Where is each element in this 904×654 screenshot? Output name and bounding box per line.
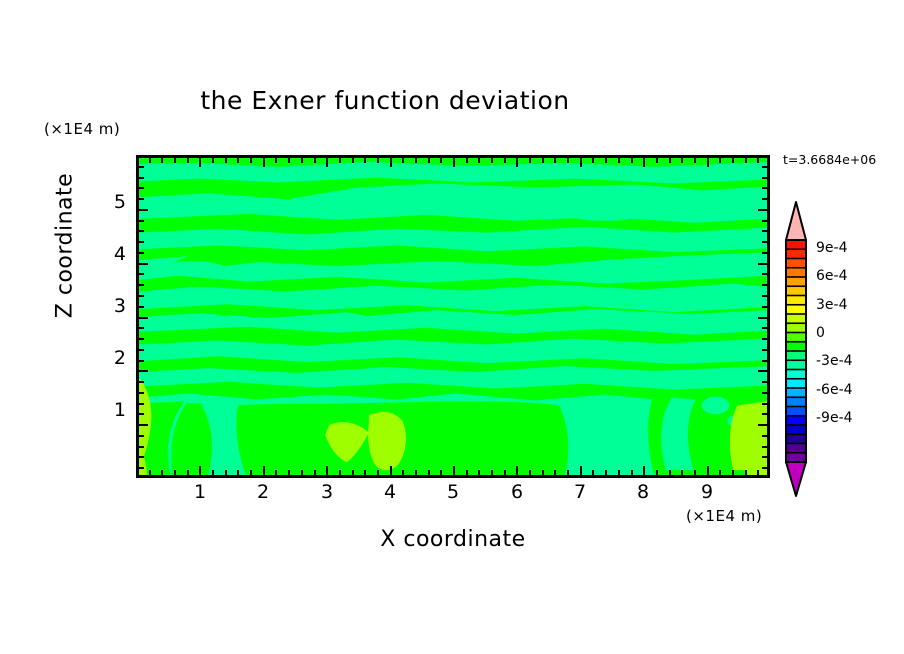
y-major-tick-5 <box>138 209 148 211</box>
y-minor-tick-right-1.8 <box>762 381 768 383</box>
x-minor-tick-top-4.4 <box>415 157 417 163</box>
x-minor-tick-top-2.6 <box>301 157 303 163</box>
y-minor-tick-0.8 <box>138 435 144 437</box>
x-minor-tick-7.4 <box>605 470 607 476</box>
x-minor-tick-top-4.6 <box>428 157 430 163</box>
x-minor-tick-top-1.2 <box>212 157 214 163</box>
x-minor-tick-8.6 <box>681 470 683 476</box>
y-minor-tick-right-3.8 <box>762 273 768 275</box>
x-minor-tick-top-9.6 <box>745 157 747 163</box>
x-minor-tick-top-7.8 <box>631 157 633 163</box>
x-minor-tick-top-9.4 <box>732 157 734 163</box>
x-minor-tick-1.2 <box>212 470 214 476</box>
x-minor-tick-4.4 <box>415 470 417 476</box>
x-minor-tick-2.6 <box>301 470 303 476</box>
x-minor-tick-top-0.8 <box>187 157 189 163</box>
y-minor-tick-3.8 <box>138 273 144 275</box>
x-minor-tick-9.6 <box>745 470 747 476</box>
x-minor-tick-0.6 <box>174 470 176 476</box>
x-minor-tick-top-2.8 <box>314 157 316 163</box>
colorbar-band-17 <box>786 397 806 407</box>
colorbar-band-15 <box>786 379 806 389</box>
x-minor-tick-top-4.2 <box>402 157 404 163</box>
y-minor-tick-right-0.4 <box>762 456 768 458</box>
y-minor-tick-2.4 <box>138 349 144 351</box>
x-minor-tick-5.6 <box>491 470 493 476</box>
x-minor-tick-top-5.2 <box>466 157 468 163</box>
x-major-tick-7 <box>580 466 582 476</box>
colorbar-band-20 <box>786 425 806 435</box>
timestamp-label: t=3.6684e+06 <box>783 152 876 167</box>
x-minor-tick-top-6.2 <box>529 157 531 163</box>
y-major-tick-4 <box>138 263 148 265</box>
y-tick-label-5: 5 <box>100 191 126 213</box>
x-minor-tick-top-4.8 <box>440 157 442 163</box>
y-minor-tick-right-3.2 <box>762 306 768 308</box>
x-tick-label-5: 5 <box>438 481 468 503</box>
y-minor-tick-right-4.6 <box>762 230 768 232</box>
colorbar-band-2 <box>786 259 806 269</box>
y-minor-tick-1.2 <box>138 413 144 415</box>
colorbar-band-7 <box>786 305 806 315</box>
x-major-tick-9 <box>707 466 709 476</box>
y-major-tick-right-5 <box>758 209 768 211</box>
x-minor-tick-8.8 <box>694 470 696 476</box>
y-minor-tick-1.8 <box>138 381 144 383</box>
y-minor-tick-2.2 <box>138 360 144 362</box>
y-minor-tick-right-0.2 <box>762 467 768 469</box>
y-tick-label-2: 2 <box>100 347 126 369</box>
colorbar-band-14 <box>786 370 806 380</box>
y-minor-tick-right-0.8 <box>762 435 768 437</box>
x-major-tick-top-2 <box>263 157 265 167</box>
y-minor-tick-right-2.8 <box>762 327 768 329</box>
y-minor-tick-1.6 <box>138 392 144 394</box>
colorbar-band-8 <box>786 314 806 324</box>
x-major-tick-1 <box>199 466 201 476</box>
x-major-tick-6 <box>516 466 518 476</box>
x-minor-tick-6.8 <box>567 470 569 476</box>
colorbar-band-23 <box>786 453 806 463</box>
x-minor-tick-5.4 <box>478 470 480 476</box>
y-major-tick-right-1 <box>758 424 768 426</box>
y-minor-tick-4.4 <box>138 241 144 243</box>
y-major-tick-1 <box>138 424 148 426</box>
x-minor-tick-9.2 <box>719 470 721 476</box>
x-minor-tick-7.2 <box>592 470 594 476</box>
x-minor-tick-top-3.6 <box>364 157 366 163</box>
y-minor-tick-5.6 <box>138 177 144 179</box>
colorbar-band-11 <box>786 342 806 352</box>
x-minor-tick-2.4 <box>288 470 290 476</box>
colorbar-band-13 <box>786 360 806 370</box>
x-minor-tick-top-0.4 <box>161 157 163 163</box>
colorbar-tick-label-5: -6e-4 <box>816 382 853 398</box>
x-major-tick-top-3 <box>326 157 328 167</box>
x-major-tick-4 <box>390 466 392 476</box>
x-minor-tick-4.8 <box>440 470 442 476</box>
x-minor-tick-top-1.8 <box>250 157 252 163</box>
y-minor-tick-right-5.2 <box>762 198 768 200</box>
colorbar <box>779 200 813 500</box>
x-minor-tick-top-7.4 <box>605 157 607 163</box>
x-minor-tick-top-5.8 <box>504 157 506 163</box>
y-minor-tick-0.4 <box>138 456 144 458</box>
x-tick-label-3: 3 <box>312 481 342 503</box>
x-minor-tick-top-5.4 <box>478 157 480 163</box>
y-axis-title: Z coordinate <box>53 121 78 371</box>
colorbar-swatches <box>779 200 813 500</box>
x-minor-tick-6.6 <box>554 470 556 476</box>
colorbar-band-0 <box>786 240 806 250</box>
colorbar-tick-label-3: 0 <box>816 325 825 341</box>
x-minor-tick-7.6 <box>618 470 620 476</box>
x-axis-title: X coordinate <box>136 527 770 552</box>
y-minor-tick-right-3.4 <box>762 295 768 297</box>
x-minor-tick-top-8.6 <box>681 157 683 163</box>
y-minor-tick-0.2 <box>138 467 144 469</box>
y-minor-tick-right-1.6 <box>762 392 768 394</box>
colorbar-band-21 <box>786 434 806 444</box>
y-minor-tick-right-5.8 <box>762 166 768 168</box>
y-major-tick-right-3 <box>758 317 768 319</box>
x-major-tick-top-6 <box>516 157 518 167</box>
x-minor-tick-top-9.2 <box>719 157 721 163</box>
y-minor-tick-3.6 <box>138 284 144 286</box>
y-tick-label-3: 3 <box>100 295 126 317</box>
x-minor-tick-5.2 <box>466 470 468 476</box>
y-minor-tick-5.4 <box>138 187 144 189</box>
y-minor-tick-0.6 <box>138 446 144 448</box>
x-tick-label-7: 7 <box>565 481 595 503</box>
y-major-tick-2 <box>138 370 148 372</box>
y-minor-tick-5.8 <box>138 166 144 168</box>
x-minor-tick-9.4 <box>732 470 734 476</box>
y-major-tick-3 <box>138 317 148 319</box>
y-minor-tick-right-2.6 <box>762 338 768 340</box>
x-minor-tick-0.2 <box>149 470 151 476</box>
x-minor-tick-top-0.2 <box>149 157 151 163</box>
y-minor-tick-right-4.4 <box>762 241 768 243</box>
y-minor-tick-right-1.2 <box>762 413 768 415</box>
x-tick-label-2: 2 <box>248 481 278 503</box>
x-minor-tick-top-1.4 <box>225 157 227 163</box>
y-minor-tick-4.8 <box>138 220 144 222</box>
y-minor-tick-right-2.4 <box>762 349 768 351</box>
x-minor-tick-3.8 <box>377 470 379 476</box>
x-minor-tick-top-5.6 <box>491 157 493 163</box>
y-tick-label-4: 4 <box>100 243 126 265</box>
x-major-tick-top-4 <box>390 157 392 167</box>
x-minor-tick-7.8 <box>631 470 633 476</box>
x-tick-label-6: 6 <box>502 481 532 503</box>
colorbar-band-1 <box>786 249 806 259</box>
x-tick-label-1: 1 <box>185 481 215 503</box>
x-minor-tick-top-0.6 <box>174 157 176 163</box>
colorbar-band-19 <box>786 416 806 426</box>
x-minor-tick-8.2 <box>656 470 658 476</box>
colorbar-band-10 <box>786 333 806 343</box>
x-minor-tick-top-9.8 <box>757 157 759 163</box>
x-major-tick-top-7 <box>580 157 582 167</box>
x-major-tick-8 <box>643 466 645 476</box>
colorbar-band-9 <box>786 323 806 333</box>
x-major-tick-2 <box>263 466 265 476</box>
x-major-tick-top-9 <box>707 157 709 167</box>
colorbar-tick-label-0: 9e-4 <box>816 240 847 256</box>
contour-field <box>139 158 767 475</box>
x-minor-tick-4.6 <box>428 470 430 476</box>
y-minor-tick-5.2 <box>138 198 144 200</box>
colorbar-band-3 <box>786 268 806 278</box>
x-tick-label-4: 4 <box>375 481 405 503</box>
y-minor-tick-right-4.8 <box>762 220 768 222</box>
x-minor-tick-1.8 <box>250 470 252 476</box>
x-major-tick-top-5 <box>453 157 455 167</box>
x-tick-label-9: 9 <box>692 481 722 503</box>
x-minor-tick-3.2 <box>339 470 341 476</box>
x-minor-tick-top-8.2 <box>656 157 658 163</box>
y-minor-tick-3.4 <box>138 295 144 297</box>
colorbar-band-16 <box>786 388 806 398</box>
y-minor-tick-right-1.4 <box>762 403 768 405</box>
x-major-tick-top-8 <box>643 157 645 167</box>
y-tick-label-1: 1 <box>100 399 126 421</box>
x-minor-tick-top-3.2 <box>339 157 341 163</box>
x-minor-tick-top-7.2 <box>592 157 594 163</box>
y-minor-tick-2.8 <box>138 327 144 329</box>
colorbar-tick-label-4: -3e-4 <box>816 353 853 369</box>
y-minor-tick-right-2.2 <box>762 360 768 362</box>
colorbar-band-18 <box>786 407 806 417</box>
y-minor-tick-1.4 <box>138 403 144 405</box>
colorbar-band-12 <box>786 351 806 361</box>
x-minor-tick-1.6 <box>237 470 239 476</box>
y-minor-tick-right-0.6 <box>762 446 768 448</box>
x-minor-tick-0.8 <box>187 470 189 476</box>
x-major-tick-5 <box>453 466 455 476</box>
x-minor-tick-top-6.6 <box>554 157 556 163</box>
colorbar-band-5 <box>786 286 806 296</box>
x-minor-tick-3.4 <box>352 470 354 476</box>
x-minor-tick-top-1.6 <box>237 157 239 163</box>
y-minor-tick-3.2 <box>138 306 144 308</box>
x-minor-tick-top-3.8 <box>377 157 379 163</box>
x-minor-tick-2.8 <box>314 470 316 476</box>
colorbar-tick-label-1: 6e-4 <box>816 268 847 284</box>
x-minor-tick-top-2.2 <box>275 157 277 163</box>
x-minor-tick-top-3.4 <box>352 157 354 163</box>
x-minor-tick-top-8.4 <box>669 157 671 163</box>
y-minor-tick-2.6 <box>138 338 144 340</box>
y-minor-tick-right-4.2 <box>762 252 768 254</box>
x-minor-tick-top-8.8 <box>694 157 696 163</box>
x-minor-tick-2.2 <box>275 470 277 476</box>
colorbar-band-4 <box>786 277 806 287</box>
y-minor-tick-right-5.4 <box>762 187 768 189</box>
y-minor-tick-4.6 <box>138 230 144 232</box>
x-major-tick-3 <box>326 466 328 476</box>
contour-plot-area <box>136 155 770 478</box>
y-minor-tick-right-5.6 <box>762 177 768 179</box>
colorbar-tick-label-2: 3e-4 <box>816 297 847 313</box>
x-minor-tick-0.4 <box>161 470 163 476</box>
colorbar-tick-label-6: -9e-4 <box>816 410 853 426</box>
y-minor-tick-right-3.6 <box>762 284 768 286</box>
colorbar-band-22 <box>786 444 806 454</box>
x-minor-tick-top-6.4 <box>542 157 544 163</box>
x-minor-tick-top-2.4 <box>288 157 290 163</box>
x-tick-label-8: 8 <box>628 481 658 503</box>
y-minor-tick-4.2 <box>138 252 144 254</box>
x-minor-tick-top-7.6 <box>618 157 620 163</box>
x-major-tick-top-1 <box>199 157 201 167</box>
x-minor-tick-3.6 <box>364 470 366 476</box>
page-title: the Exner function deviation <box>0 86 770 115</box>
x-minor-tick-5.8 <box>504 470 506 476</box>
y-major-tick-right-2 <box>758 370 768 372</box>
x-minor-tick-1.4 <box>225 470 227 476</box>
x-minor-tick-top-6.8 <box>567 157 569 163</box>
x-minor-tick-4.2 <box>402 470 404 476</box>
x-minor-tick-9.8 <box>757 470 759 476</box>
x-axis-unit-note: (×1E4 m) <box>686 507 762 525</box>
x-minor-tick-6.2 <box>529 470 531 476</box>
x-minor-tick-6.4 <box>542 470 544 476</box>
y-major-tick-right-4 <box>758 263 768 265</box>
colorbar-band-6 <box>786 296 806 306</box>
x-minor-tick-8.4 <box>669 470 671 476</box>
